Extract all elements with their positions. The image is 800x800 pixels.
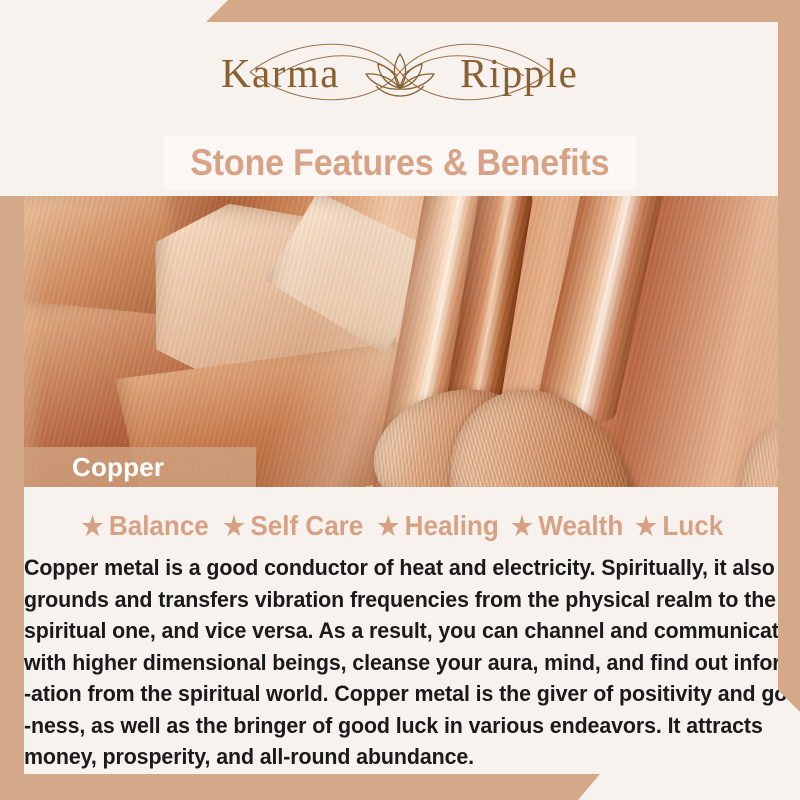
stone-name-band: Copper [24,447,256,487]
infographic-page: Karma Ripple Stone Features & Benefits C… [0,0,800,800]
benefit-label: Luck [662,510,723,542]
benefit-label: Balance [109,510,209,542]
benefit-item: ★ Luck [631,510,723,542]
title-banner: Stone Features & Benefits [164,136,636,190]
benefit-label: Healing [405,510,499,542]
benefit-item: ★ Wealth [508,510,624,542]
description-line: with higher dimensional beings, cleanse … [24,647,738,679]
frame-right-band [778,0,800,712]
stone-name: Copper [72,452,164,483]
frame-top-band [0,0,800,22]
star-icon: ★ [223,513,245,539]
description-line: grounds and transfers vibration frequenc… [24,584,738,616]
benefit-label: Self Care [251,510,364,542]
brand-name-left: Karma [221,50,340,96]
star-icon: ★ [635,513,657,539]
benefit-label: Wealth [539,510,624,542]
description-line: spiritual one, and vice versa. As a resu… [24,615,738,647]
description-block: Copper metal is a good conductor of heat… [24,552,776,774]
frame-left-band [0,196,24,800]
page-title: Stone Features & Benefits [190,142,609,184]
stone-photo: Copper [0,196,800,487]
star-icon: ★ [377,513,399,539]
frame-bottom-band [0,774,800,800]
logo-artwork: Karma Ripple [190,26,610,122]
brand-logo: Karma Ripple [0,26,800,122]
description-line: -ness, as well as the bringer of good lu… [24,710,738,742]
benefit-item: ★ Balance [78,510,209,542]
brand-name-right: Ripple [460,50,578,96]
star-icon: ★ [82,513,104,539]
benefits-row: ★ Balance ★ Self Care ★ Healing ★ Wealth… [24,504,776,548]
description-line: -ation from the spiritual world. Copper … [24,678,738,710]
star-icon: ★ [511,513,533,539]
benefit-item: ★ Self Care [220,510,364,542]
description-line: money, prosperity, and all-round abundan… [24,741,738,773]
description-line: Copper metal is a good conductor of heat… [24,552,738,584]
benefit-item: ★ Healing [374,510,499,542]
